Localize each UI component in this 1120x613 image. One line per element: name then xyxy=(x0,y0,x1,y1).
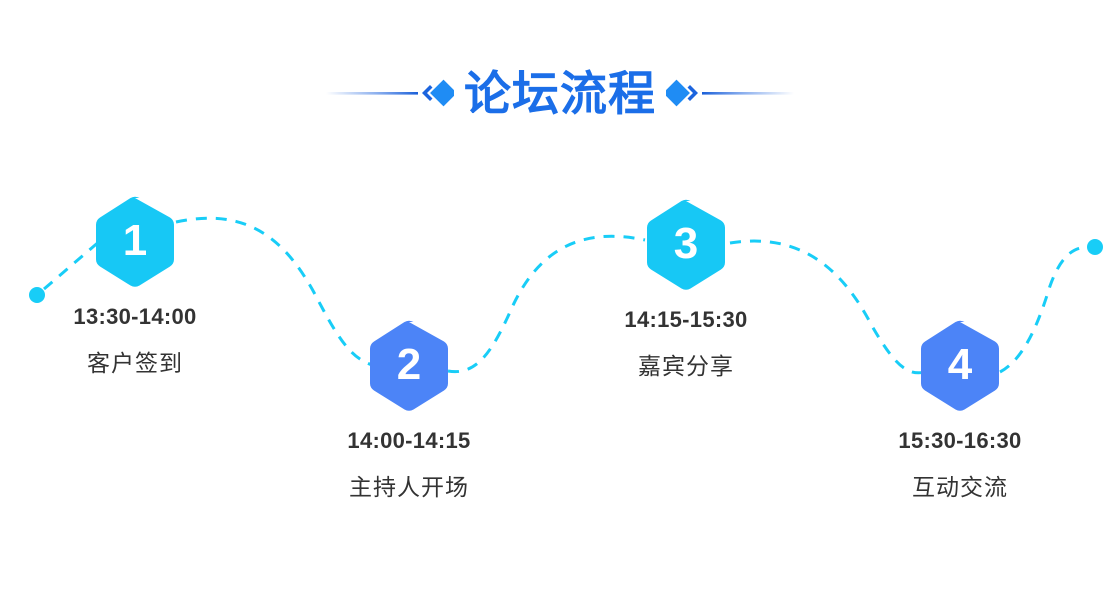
step-4-time: 15:30-16:30 xyxy=(840,428,1080,454)
step-1-label: 客户签到 xyxy=(15,350,255,378)
step-2-time: 14:00-14:15 xyxy=(289,428,529,454)
step-2-label: 主持人开场 xyxy=(289,474,529,502)
step-4-hexagon[interactable]: 4 xyxy=(919,320,1001,412)
step-3-number: 3 xyxy=(645,199,727,291)
step-4-number: 4 xyxy=(919,320,1001,412)
step-3-time: 14:15-15:30 xyxy=(566,307,806,333)
end-dot xyxy=(1087,239,1103,255)
step-3-label: 嘉宾分享 xyxy=(566,353,806,381)
forum-agenda-infographic: 论坛流程 xyxy=(0,0,1120,613)
timeline-step-1[interactable]: 1 13:30-14:00 客户签到 xyxy=(15,196,255,378)
step-1-number: 1 xyxy=(94,196,176,288)
step-2-number: 2 xyxy=(368,320,450,412)
step-2-hexagon[interactable]: 2 xyxy=(368,320,450,412)
timeline-step-2[interactable]: 2 14:00-14:15 主持人开场 xyxy=(289,320,529,502)
step-4-label: 互动交流 xyxy=(840,474,1080,502)
step-1-time: 13:30-14:00 xyxy=(15,304,255,330)
timeline-step-3[interactable]: 3 14:15-15:30 嘉宾分享 xyxy=(566,199,806,381)
timeline-step-4[interactable]: 4 15:30-16:30 互动交流 xyxy=(840,320,1080,502)
step-1-hexagon[interactable]: 1 xyxy=(94,196,176,288)
step-3-hexagon[interactable]: 3 xyxy=(645,199,727,291)
